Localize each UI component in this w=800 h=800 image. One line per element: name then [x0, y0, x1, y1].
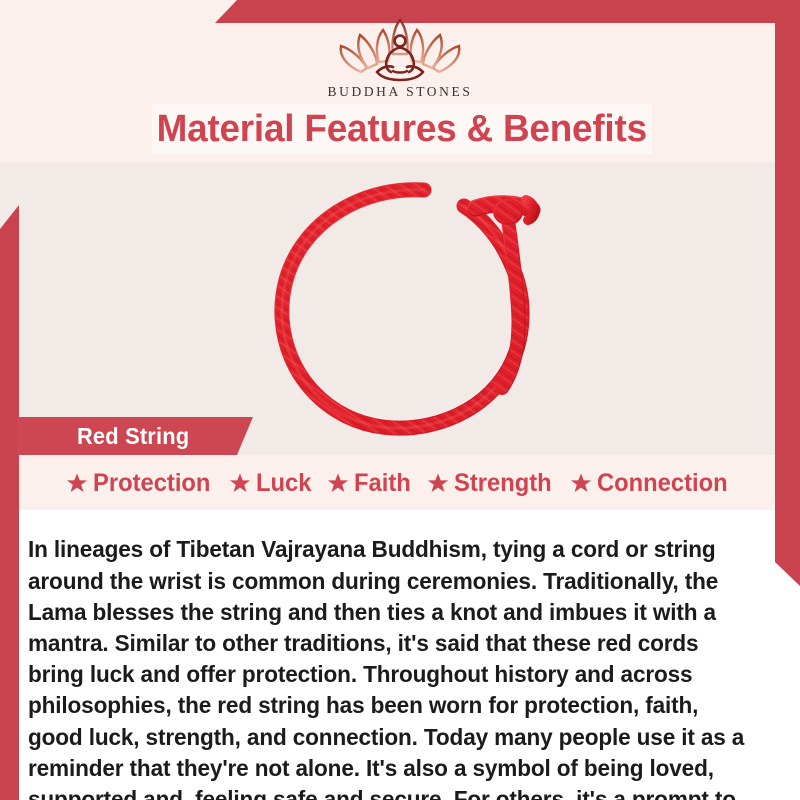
feature-list: Protection Luck Faith Strength Connectio… [30, 462, 770, 504]
feature-item-connection: Connection [570, 469, 735, 498]
brand-logo: BUDDHA STONES [0, 16, 800, 100]
feature-label: Faith [354, 469, 411, 498]
description-text: In lineages of Tibetan Vajrayana Buddhis… [28, 534, 747, 800]
decorative-strip-right [775, 23, 800, 586]
star-icon [427, 472, 449, 494]
product-image [250, 162, 570, 452]
feature-label: Protection [93, 469, 210, 498]
infographic-page: BUDDHA STONES Material Features & Benefi… [0, 0, 800, 800]
feature-label: Connection [597, 469, 728, 498]
feature-item-strength: Strength [427, 469, 557, 498]
decorative-strip-left [0, 205, 19, 800]
star-icon [229, 472, 251, 494]
star-icon [570, 472, 592, 494]
feature-label: Strength [454, 469, 552, 498]
title-plate: Material Features & Benefits [152, 104, 652, 154]
star-icon [66, 472, 88, 494]
feature-item-luck: Luck [229, 469, 314, 498]
brand-name: BUDDHA STONES [0, 84, 800, 100]
feature-label: Luck [256, 469, 311, 498]
feature-item-faith: Faith [327, 469, 414, 498]
star-icon [327, 472, 349, 494]
red-braided-string-bracelet-icon [250, 162, 570, 452]
product-tag-label: Red String [77, 423, 189, 450]
product-tag: Red String [17, 417, 253, 455]
feature-item-protection: Protection [66, 469, 217, 498]
lotus-meditation-figure-icon [327, 16, 473, 82]
page-title: Material Features & Benefits [157, 108, 647, 151]
